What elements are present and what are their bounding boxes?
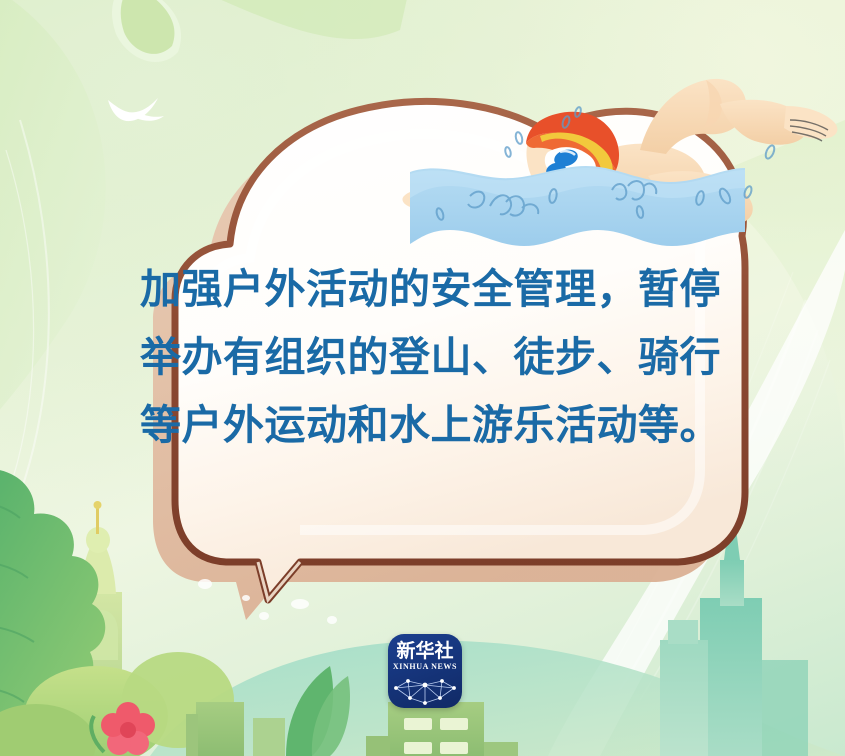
logo-network-icon	[388, 672, 462, 708]
logo-chinese-text: 新华社	[388, 641, 462, 661]
logo-english-text: XINHUA NEWS	[388, 662, 462, 672]
poster-canvas: 加强户外活动的安全管理，暂停 举办有组织的登山、徒步、骑行 等户外运动和水上游乐…	[0, 0, 845, 756]
xinhua-news-logo[interactable]: 新华社 XINHUA NEWS	[388, 634, 462, 708]
